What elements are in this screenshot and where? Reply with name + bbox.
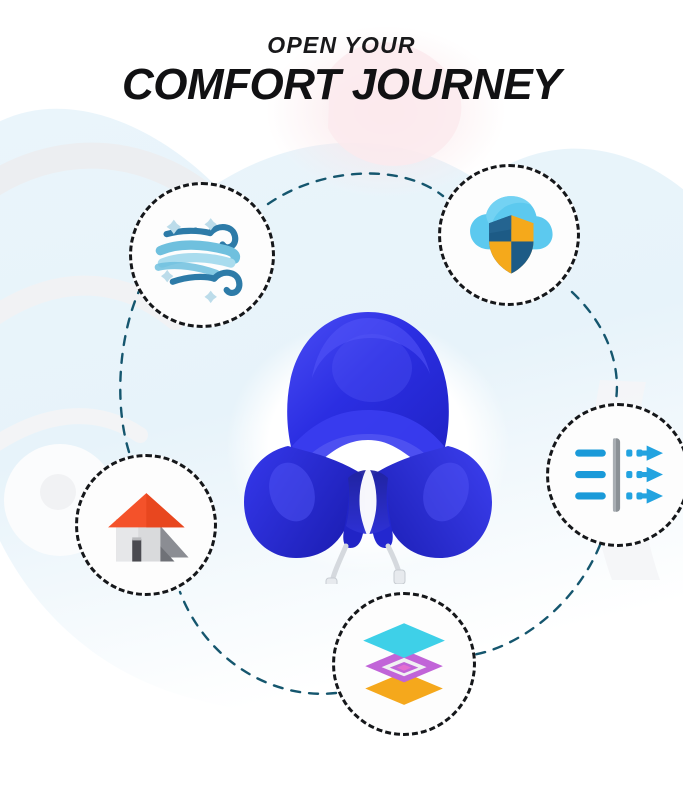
connector-breathable-protection: [268, 173, 443, 204]
feature-node-airflow[interactable]: [546, 403, 683, 547]
feature-node-breathable[interactable]: [129, 182, 275, 328]
connector-protection-airflow: [572, 292, 617, 400]
feature-node-protection[interactable]: [438, 164, 580, 306]
wind-breeze-icon: [150, 203, 254, 307]
outgoing-arrows: [626, 445, 663, 503]
cloud-shield-icon: [459, 185, 560, 286]
air-permeability-icon: [567, 424, 669, 526]
stacked-layers-icon: [353, 613, 455, 715]
house-comfort-icon: [96, 475, 197, 576]
feature-node-layers[interactable]: [332, 592, 476, 736]
product-image: [222, 296, 514, 584]
infographic-canvas: OPEN YOUR COMFORT JOURNEY: [0, 0, 683, 800]
connector-layers-home: [180, 592, 336, 694]
headline-kicker: OPEN YOUR: [0, 34, 683, 57]
headline-block: OPEN YOUR COMFORT JOURNEY: [0, 34, 683, 108]
shield-shape: [489, 215, 533, 273]
incoming-lines: [575, 449, 606, 499]
layer-top: [363, 623, 445, 658]
page-title: COMFORT JOURNEY: [0, 63, 683, 108]
house-door: [132, 539, 141, 561]
feature-node-home[interactable]: [75, 454, 217, 596]
